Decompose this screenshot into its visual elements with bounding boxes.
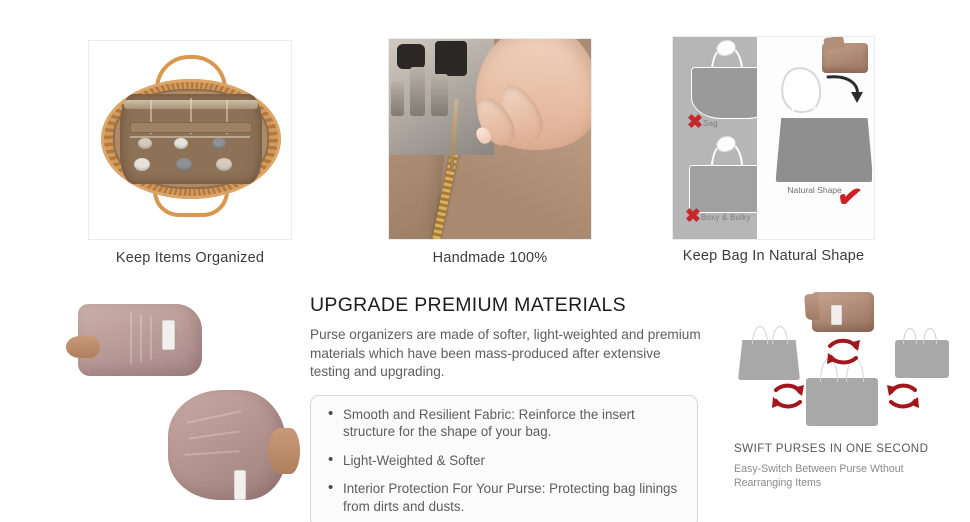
top-feature-row: Keep Items Organized bbox=[0, 0, 970, 280]
bag-handle-icon bbox=[903, 328, 917, 344]
hand-grip bbox=[66, 336, 100, 358]
bag-interior-illustration bbox=[89, 41, 291, 239]
swift-purses-subtitle: Easy-Switch Between Purse Wthout Rearran… bbox=[734, 462, 959, 490]
bag-handle-icon bbox=[752, 326, 768, 344]
bag-handle-icon bbox=[923, 328, 937, 344]
stored-item bbox=[134, 158, 150, 171]
handbag-icon-left bbox=[738, 340, 800, 380]
product-infographic: Keep Items Organized bbox=[0, 0, 970, 522]
swap-arrow-icon-left bbox=[768, 380, 808, 412]
feature-caption: Handmade 100% bbox=[388, 250, 592, 266]
swift-purses-section: SWIFT PURSES IN ONE SECOND Easy-Switch B… bbox=[726, 290, 961, 518]
product-tag bbox=[162, 320, 175, 350]
premium-materials-section: UPGRADE PREMIUM MATERIALS Purse organize… bbox=[0, 282, 970, 522]
feature-caption: Keep Bag In Natural Shape bbox=[672, 248, 875, 264]
swift-purses-text: SWIFT PURSES IN ONE SECOND Easy-Switch B… bbox=[734, 442, 959, 490]
stored-item bbox=[174, 138, 188, 149]
section-heading: UPGRADE PREMIUM MATERIALS bbox=[310, 294, 702, 317]
swap-arrow-icon-center bbox=[822, 334, 864, 368]
product-photo-folded-organizer bbox=[78, 304, 202, 376]
machine-head-part bbox=[397, 44, 424, 70]
stored-item bbox=[176, 158, 192, 171]
feature-caption: Keep Items Organized bbox=[88, 250, 292, 266]
materials-text-block: UPGRADE PREMIUM MATERIALS Purse organize… bbox=[310, 294, 702, 522]
feature-panel-handmade: Handmade 100% bbox=[388, 38, 592, 240]
hand-grip bbox=[268, 428, 300, 474]
organizer-tag bbox=[831, 305, 842, 325]
good-shape-column: Natural Shape ✔ bbox=[757, 37, 874, 239]
bad-shape-label-boxy: Boxy & Bulky bbox=[701, 213, 751, 222]
list-item: Smooth and Resilient Fabric: Reinforce t… bbox=[323, 406, 683, 441]
organizer-top-view-image bbox=[88, 40, 292, 240]
swift-purses-title: SWIFT PURSES IN ONE SECOND bbox=[734, 442, 959, 455]
list-item: Light-Weighted & Softer bbox=[323, 452, 683, 470]
organizer-flap bbox=[823, 36, 844, 50]
organizer-insert-icon bbox=[822, 43, 868, 73]
long-pocket bbox=[130, 122, 252, 133]
organizer-side-flap bbox=[804, 294, 820, 321]
organizer-insert-icon bbox=[812, 292, 874, 332]
handmade-sewing-illustration bbox=[389, 39, 591, 239]
handbag-icon-bottom bbox=[806, 378, 878, 426]
check-mark-icon: ✔ bbox=[835, 181, 864, 214]
machine-head-part bbox=[435, 41, 467, 76]
stored-item bbox=[216, 158, 232, 171]
bag-swap-diagram bbox=[726, 290, 961, 440]
product-photo-rolled-organizer bbox=[168, 390, 286, 500]
product-tag bbox=[234, 470, 246, 500]
handbag-icon-right bbox=[895, 340, 949, 378]
bag-shape-comparison-image: ✖ Sag ✖ Boxy & Bulky bbox=[672, 36, 875, 240]
natural-shape-label: Natural Shape bbox=[787, 185, 841, 195]
machine-metal-part bbox=[410, 67, 425, 116]
x-mark-icon: ✖ bbox=[687, 113, 703, 132]
bag-handle-icon bbox=[772, 326, 788, 344]
fold-crease bbox=[130, 312, 132, 364]
feature-bullet-box: Smooth and Resilient Fabric: Reinforce t… bbox=[310, 395, 698, 522]
bad-shape-label-sag: Sag bbox=[703, 119, 718, 128]
section-paragraph: Purse organizers are made of softer, lig… bbox=[310, 326, 702, 382]
feature-panel-keep-items-organized: Keep Items Organized bbox=[88, 40, 292, 240]
stored-item bbox=[138, 138, 152, 149]
x-mark-icon: ✖ bbox=[685, 207, 701, 226]
bullet-list: Smooth and Resilient Fabric: Reinforce t… bbox=[323, 406, 683, 516]
swap-arrow-icon-right bbox=[883, 380, 923, 412]
fold-crease bbox=[150, 316, 152, 360]
stored-item bbox=[212, 138, 226, 149]
feature-panel-natural-shape: ✖ Sag ✖ Boxy & Bulky bbox=[672, 36, 875, 240]
list-item: Interior Protection For Your Purse: Prot… bbox=[323, 480, 683, 515]
compartment-divider bbox=[130, 136, 250, 138]
shape-comparison-diagram: ✖ Sag ✖ Boxy & Bulky bbox=[673, 37, 874, 239]
organizer-insert-compartments bbox=[120, 94, 262, 184]
sewing-machine-image bbox=[388, 38, 592, 240]
natural-shape-bag-icon bbox=[775, 117, 873, 183]
fold-crease bbox=[140, 314, 142, 362]
machine-metal-part bbox=[431, 74, 448, 116]
machine-metal-part bbox=[391, 81, 404, 116]
bad-shapes-column: ✖ Sag ✖ Boxy & Bulky bbox=[673, 37, 757, 239]
